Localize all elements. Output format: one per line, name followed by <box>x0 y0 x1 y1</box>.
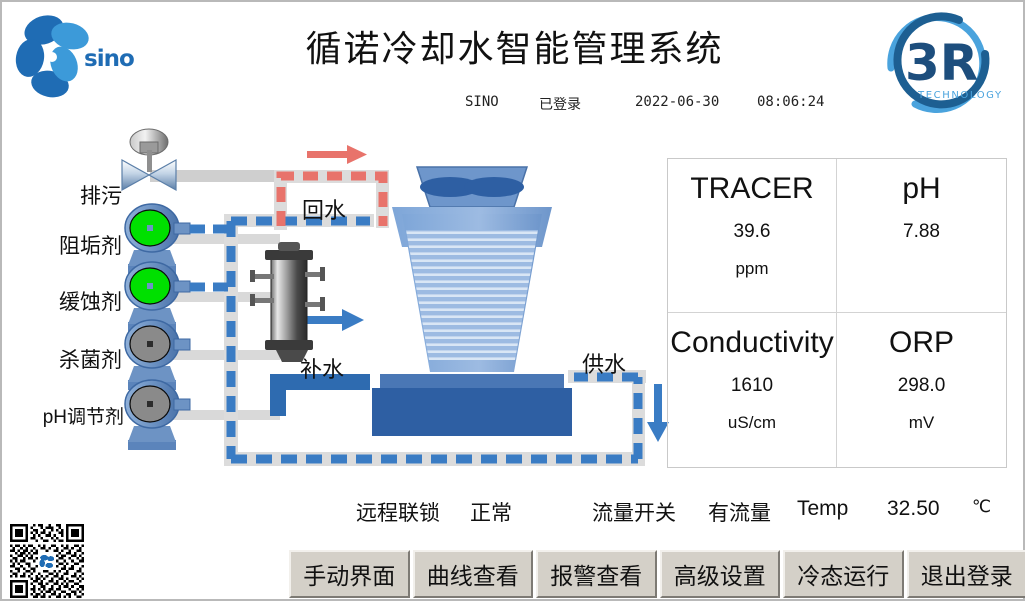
temperature-unit: ℃ <box>972 497 991 517</box>
measurement-name: TRACER <box>690 173 813 205</box>
alarm-view-button[interactable]: 报警查看 <box>536 550 657 598</box>
arrow-supply <box>647 384 669 442</box>
session-info: SINO 已登录 2022-06-30 08:06:24 <box>457 94 927 114</box>
navigation-button-bar: 手动界面 曲线查看 报警查看 高级设置 冷态运行 退出登录 <box>289 550 1025 598</box>
measurement-orp[interactable]: ORP 298.0 mV <box>837 313 1006 467</box>
measurement-unit: uS/cm <box>728 413 776 433</box>
measurement-value: 7.88 <box>903 221 940 243</box>
session-time: 08:06:24 <box>757 94 824 110</box>
flow-switch-label: 流量开关 <box>592 497 676 527</box>
logout-button[interactable]: 退出登录 <box>907 550 1025 598</box>
remote-interlock-label: 远程联锁 <box>356 497 440 527</box>
arrow-return <box>307 145 367 164</box>
svg-text:TECHNOLOGY: TECHNOLOGY <box>917 90 1003 101</box>
measurement-value: 39.6 <box>734 221 771 243</box>
arrow-makeup <box>302 309 364 331</box>
session-date: 2022-06-30 <box>635 94 719 110</box>
session-user: SINO <box>465 94 499 110</box>
label-return-water: 回水 <box>302 199 346 224</box>
measurement-name: Conductivity <box>670 327 833 359</box>
measurement-value: 1610 <box>731 375 773 397</box>
measurement-tracer[interactable]: TRACER 39.6 ppm <box>668 159 837 313</box>
blowdown-valve[interactable] <box>122 129 280 190</box>
qr-code <box>10 524 84 598</box>
measurement-value: 298.0 <box>898 375 946 397</box>
session-status: 已登录 <box>539 94 581 114</box>
manual-interface-button[interactable]: 手动界面 <box>289 550 410 598</box>
measurement-unit: ppm <box>735 259 768 279</box>
temperature-value: 32.50 <box>887 497 940 521</box>
status-bar: 远程联锁 正常 流量开关 有流量 Temp 32.50 ℃ <box>342 497 1025 529</box>
cooling-tower[interactable] <box>372 167 572 436</box>
process-diagram: 回水 补水 供水 <box>2 122 672 482</box>
measurement-conductivity[interactable]: Conductivity 1610 uS/cm <box>668 313 837 467</box>
heat-exchanger-vessel[interactable] <box>250 242 325 362</box>
advanced-settings-button[interactable]: 高级设置 <box>660 550 781 598</box>
application-window: sino 3R TECHNOLOGY 循诺冷却水智能管理系统 SINO 已登录 … <box>0 0 1025 601</box>
measurement-unit: mV <box>909 413 935 433</box>
measurement-panel: TRACER 39.6 ppm pH 7.88 Conductivity 161… <box>667 158 1007 468</box>
cold-start-run-button[interactable]: 冷态运行 <box>783 550 904 598</box>
page-title: 循诺冷却水智能管理系统 <box>2 20 1025 72</box>
trend-curve-button[interactable]: 曲线查看 <box>413 550 534 598</box>
measurement-ph[interactable]: pH 7.88 <box>837 159 1006 313</box>
label-makeup-water: 补水 <box>300 358 344 383</box>
measurement-name: ORP <box>889 327 954 359</box>
measurement-name: pH <box>902 173 940 205</box>
remote-interlock-value: 正常 <box>470 497 512 527</box>
temperature-label: Temp <box>797 497 848 521</box>
flow-switch-value: 有流量 <box>708 497 771 527</box>
label-supply-water: 供水 <box>582 353 626 378</box>
